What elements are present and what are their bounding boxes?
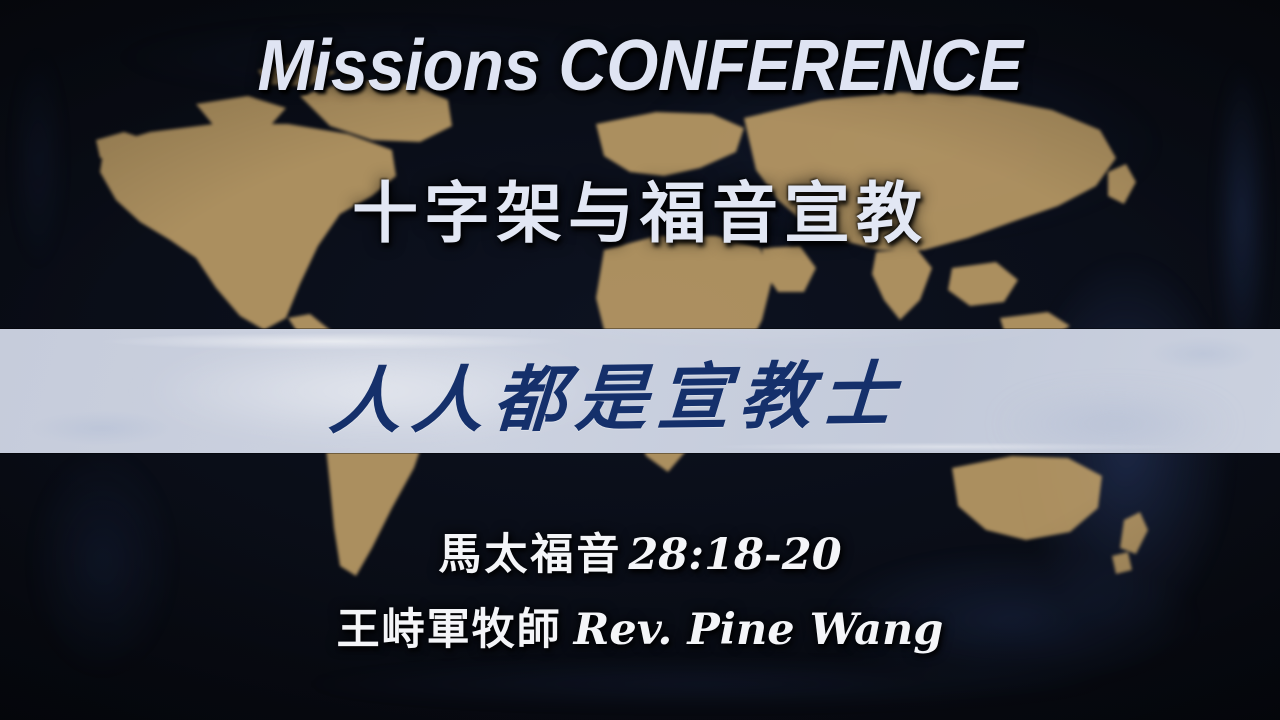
- speaker-name-english: Rev. Pine Wang: [574, 605, 944, 655]
- page-subtitle-chinese: 十字架与福音宣教: [0, 178, 1280, 251]
- banner-headline-chinese: 人人都是宣教士: [0, 329, 1280, 453]
- highlight-banner: 人人都是宣教士: [0, 329, 1280, 453]
- scripture-book-chinese: 馬太福音: [438, 530, 622, 580]
- page-title: Missions CONFERENCE: [45, 28, 1235, 106]
- speaker-line: 王峙軍牧師Rev. Pine Wang: [0, 605, 1280, 656]
- scripture-verse-reference: 28:18-20: [628, 530, 841, 580]
- scripture-reference-line: 馬太福音28:18-20: [0, 530, 1280, 581]
- sermon-title-slide: Missions CONFERENCE 十字架与福音宣教 人人都是宣教士 馬太福…: [0, 0, 1280, 720]
- footer-block: 馬太福音28:18-20 王峙軍牧師Rev. Pine Wang: [0, 530, 1280, 655]
- speaker-name-chinese: 王峙軍牧師: [337, 605, 562, 655]
